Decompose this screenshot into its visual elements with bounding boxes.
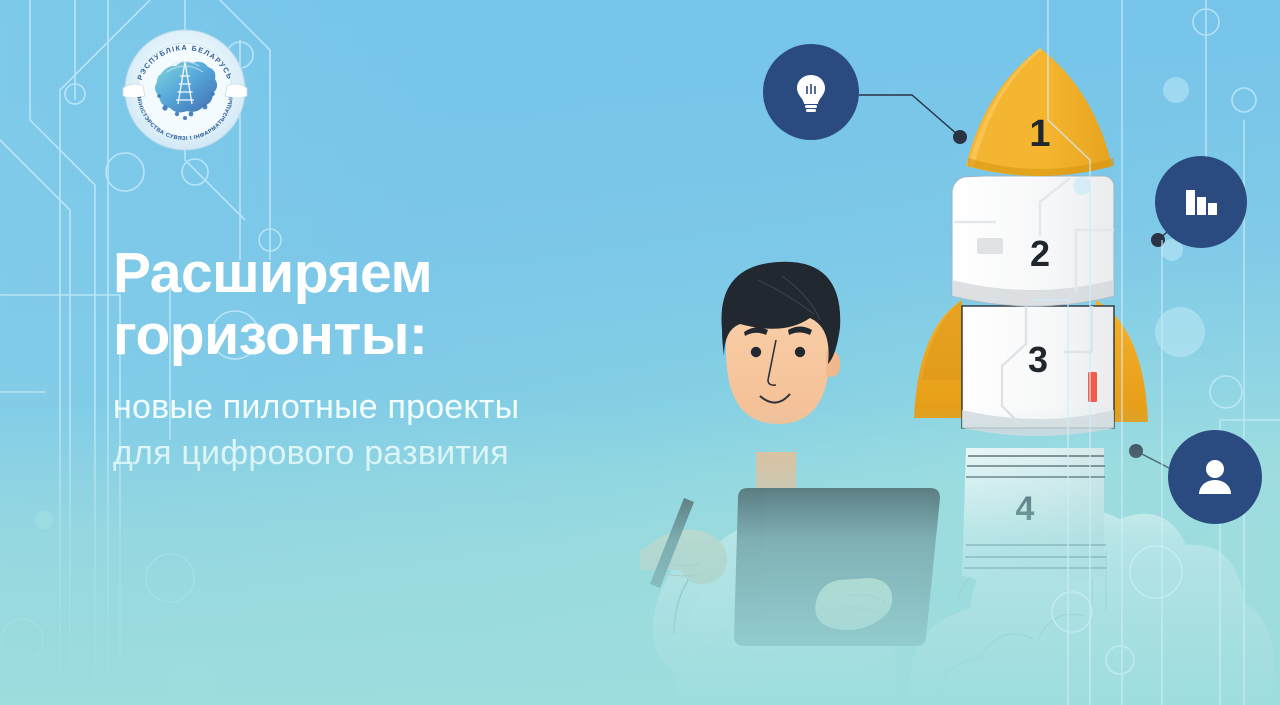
subtitle-line-1: новые пилотные проекты (113, 388, 519, 426)
illustration-rocket-and-presenter: 4 3 2 (640, 0, 1280, 705)
rocket-stage-number-3: 3 (1028, 339, 1048, 380)
rocket-stage-number-2: 2 (1030, 233, 1050, 274)
lightbulb-icon (787, 68, 835, 116)
rocket-nose-cone: 1 (966, 48, 1114, 176)
subtitle-line-2: для цифрового развития (113, 434, 509, 472)
ministry-logo: РЭСПУБЛІКА БЕЛАРУСЬ МІНІСТЭРСТВА СУВЯЗІ … (121, 26, 249, 154)
poster-canvas: РЭСПУБЛІКА БЕЛАРУСЬ МІНІСТЭРСТВА СУВЯЗІ … (0, 0, 1280, 705)
headline-block: Расширяем горизонты: новые пилотные прое… (113, 242, 713, 476)
user-icon (1192, 454, 1238, 500)
pointing-hand (640, 498, 727, 588)
rocket-stage-4: 4 (962, 448, 1106, 585)
rocket-stage-number-1: 1 (1029, 113, 1050, 155)
page-title: Расширяем горизонты: (113, 242, 713, 366)
page-subtitle: новые пилотные проекты для цифрового раз… (113, 384, 713, 476)
icon-bubble-analytics[interactable] (1155, 156, 1247, 248)
rocket-stage-number-4: 4 (1016, 490, 1035, 528)
rocket-stage-3: 3 (962, 306, 1114, 436)
title-line-1: Расширяем (113, 241, 432, 305)
rocket-stage-2: 2 (952, 176, 1114, 306)
icon-bubble-people[interactable] (1168, 430, 1262, 524)
title-line-2: горизонты: (113, 303, 427, 367)
icon-bubble-idea[interactable] (763, 44, 859, 140)
rocket-accent-stripe (1088, 372, 1097, 402)
bar-chart-icon (1179, 180, 1223, 224)
